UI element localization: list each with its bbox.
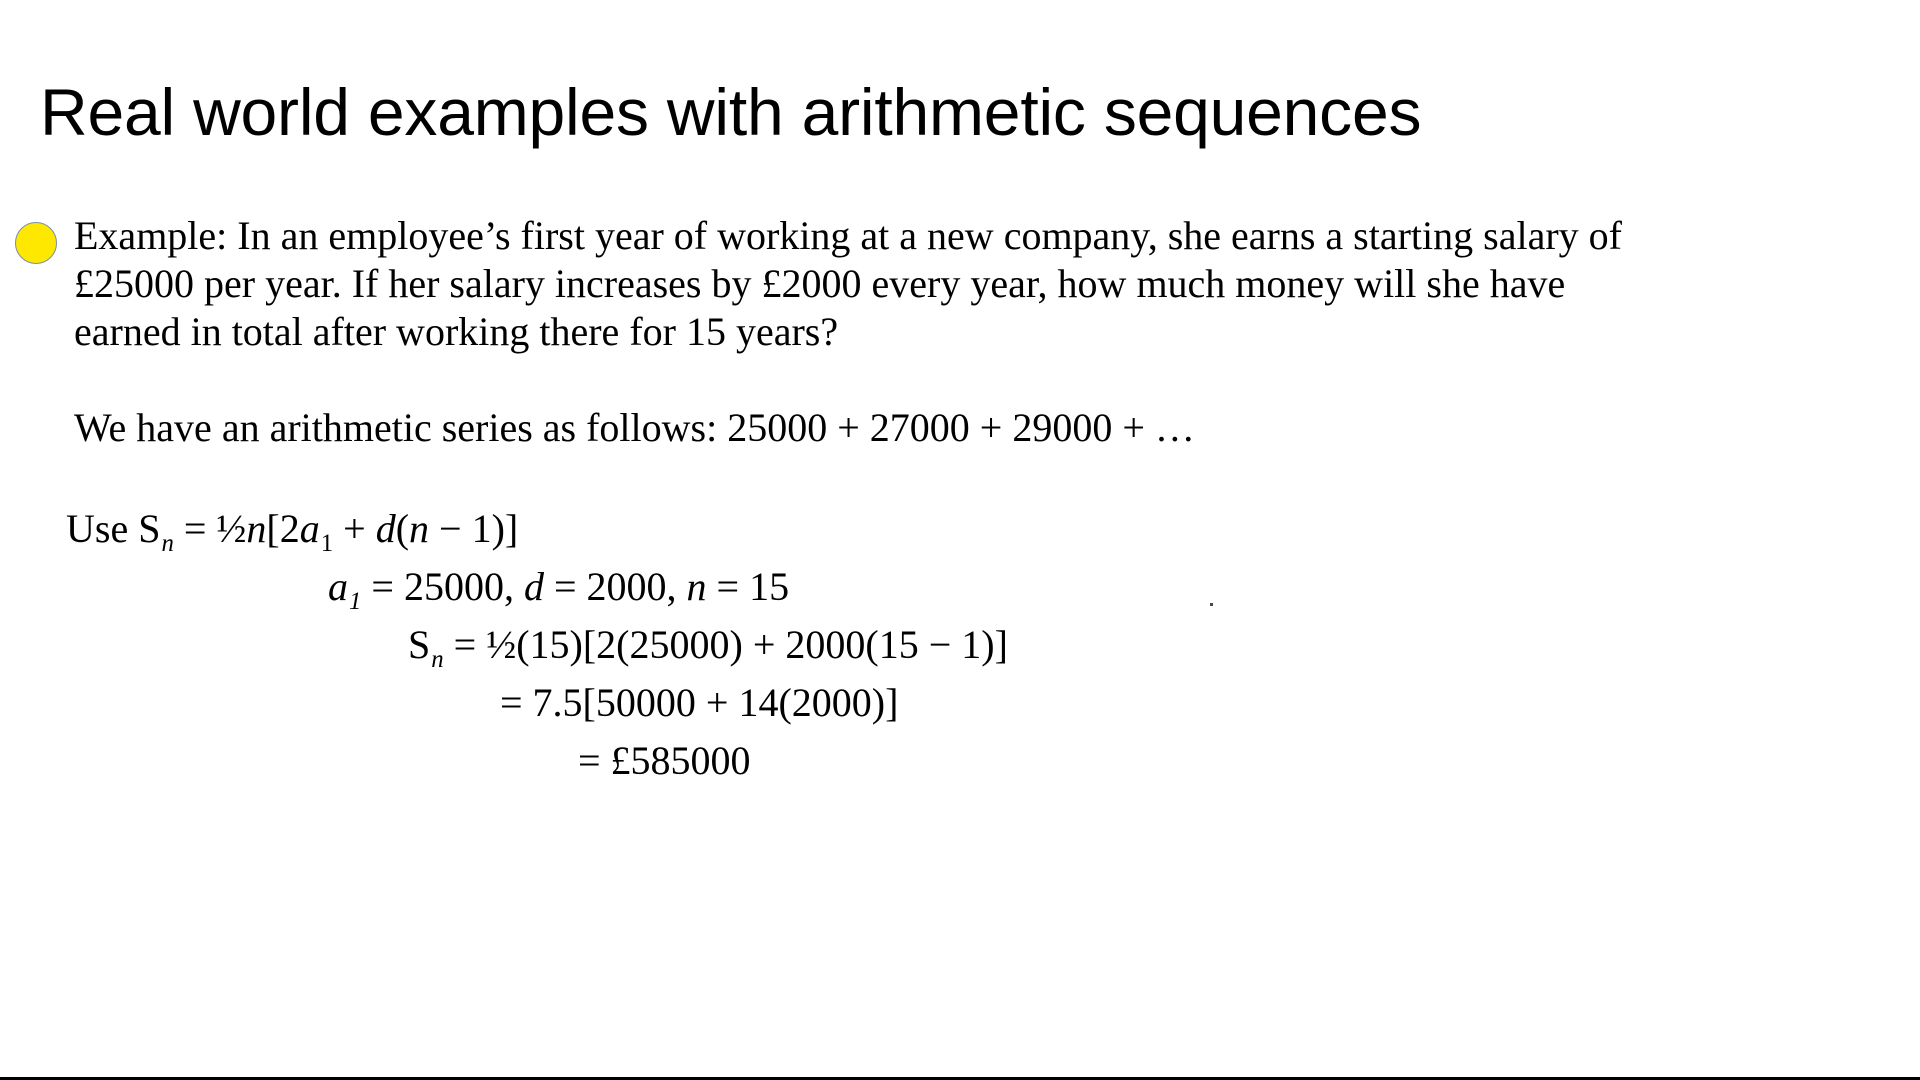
- bullet-line-3: earned in total after working there for …: [74, 308, 1774, 356]
- slide: Real world examples with arithmetic sequ…: [0, 0, 1920, 1080]
- formula-part-c: +: [333, 506, 376, 551]
- formula-part-a: = ½: [174, 506, 247, 551]
- working-line-simplify: = 7.5[50000 + 14(2000)]: [0, 674, 1880, 732]
- bullet-circle-icon: [15, 222, 57, 264]
- working-block: Use Sn = ½n[2a1 + d(n − 1)] a1 = 25000, …: [0, 500, 1880, 790]
- working-line-formula: Use Sn = ½n[2a1 + d(n − 1)]: [0, 500, 1880, 558]
- formula-var-a: a: [300, 506, 320, 551]
- values-part-1: = 25000,: [361, 564, 524, 609]
- bullet-paragraph: Example: In an employee’s first year of …: [0, 212, 1880, 356]
- slide-body: Example: In an employee’s first year of …: [0, 212, 1880, 452]
- formula-part-b: [2: [266, 506, 299, 551]
- values-var-a: a: [328, 564, 348, 609]
- values-var-n: n: [687, 564, 707, 609]
- values-part-2: = 2000,: [544, 564, 687, 609]
- working-line-answer: = £585000: [0, 732, 1880, 790]
- formula-part-e: − 1)]: [429, 506, 518, 551]
- bullet-paragraph-text: Example: In an employee’s first year of …: [74, 212, 1774, 356]
- bullet-line-2: £25000 per year. If her salary increases…: [74, 260, 1774, 308]
- page-title: Real world examples with arithmetic sequ…: [40, 74, 1890, 150]
- working-line-values: a1 = 25000, d = 2000, n = 15: [0, 558, 1880, 616]
- values-var-d: d: [524, 564, 544, 609]
- substitution-rest: = ½(15)[2(25000) + 2000(15 − 1)]: [444, 622, 1008, 667]
- substitution-prefix-subscript: n: [430, 646, 443, 673]
- values-var-a-subscript: 1: [348, 588, 361, 615]
- formula-prefix: Use S: [66, 506, 160, 551]
- formula-part-d: (: [396, 506, 409, 551]
- working-line-substitution: Sn = ½(15)[2(25000) + 2000(15 − 1)]: [0, 616, 1880, 674]
- values-part-3: = 15: [707, 564, 790, 609]
- formula-var-n: n: [246, 506, 266, 551]
- stray-dot-artifact: [1210, 603, 1213, 606]
- formula-var-n2: n: [409, 506, 429, 551]
- paragraph-spacer: [0, 356, 1880, 404]
- formula-var-a-subscript: 1: [320, 530, 333, 557]
- formula-var-d: d: [376, 506, 396, 551]
- bullet-line-1: Example: In an employee’s first year of …: [74, 212, 1774, 260]
- substitution-prefix: S: [408, 622, 430, 667]
- series-paragraph: We have an arithmetic series as follows:…: [0, 404, 1880, 452]
- formula-prefix-subscript: n: [160, 530, 173, 557]
